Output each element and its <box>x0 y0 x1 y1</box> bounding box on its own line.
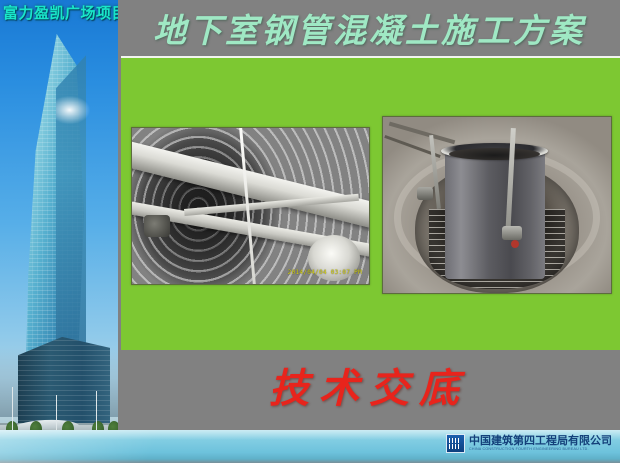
footer-diagonal-sheen <box>0 430 220 463</box>
slide-title: 地下室钢管混凝土施工方案 <box>153 4 585 52</box>
building-rendering-photo: 富力盈凯广场项目 <box>0 0 118 463</box>
red-marker <box>511 240 519 248</box>
slide-body: 地下室钢管混凝土施工方案 2014/04/04 03:07 PM <box>118 0 620 463</box>
project-name-label: 富力盈凯广场项目 <box>3 5 118 22</box>
subtitle-band: 技术交底 <box>118 348 620 430</box>
tube-clamp <box>502 226 522 240</box>
company-name-en: CHINA CONSTRUCTION FOURTH ENGINEERING BU… <box>469 448 612 452</box>
sun-glint <box>56 96 90 124</box>
tube-clamp <box>417 187 433 200</box>
steel-tube-body <box>445 149 545 279</box>
tower-side-facet <box>56 42 86 372</box>
slide-subtitle: 技术交底 <box>118 356 620 414</box>
company-logo: 中国建筑第四工程局有限公司 CHINA CONSTRUCTION FOURTH … <box>446 434 612 453</box>
steel-tube-lowered-into-shaft-photo <box>382 116 612 294</box>
presentation-slide: 富力盈凯广场项目 地下室钢管混凝土施工方案 2014/04/04 03:07 P… <box>0 0 620 463</box>
green-content-panel: 2014/04/04 03:07 PM <box>121 56 620 350</box>
camera-timestamp: 2014/04/04 03:07 PM <box>288 269 362 276</box>
footer-bar: 中国建筑第四工程局有限公司 CHINA CONSTRUCTION FOURTH … <box>0 430 620 463</box>
title-band: 地下室钢管混凝土施工方案 <box>118 0 620 55</box>
company-logo-text: 中国建筑第四工程局有限公司 CHINA CONSTRUCTION FOURTH … <box>469 435 612 452</box>
company-name-cn: 中国建筑第四工程局有限公司 <box>469 435 612 446</box>
cscec-logo-icon <box>446 434 465 453</box>
steel-tube-bore <box>449 148 540 160</box>
pipe-interior-bracing-photo: 2014/04/04 03:07 PM <box>131 127 370 285</box>
pipe-clamp <box>144 215 170 237</box>
